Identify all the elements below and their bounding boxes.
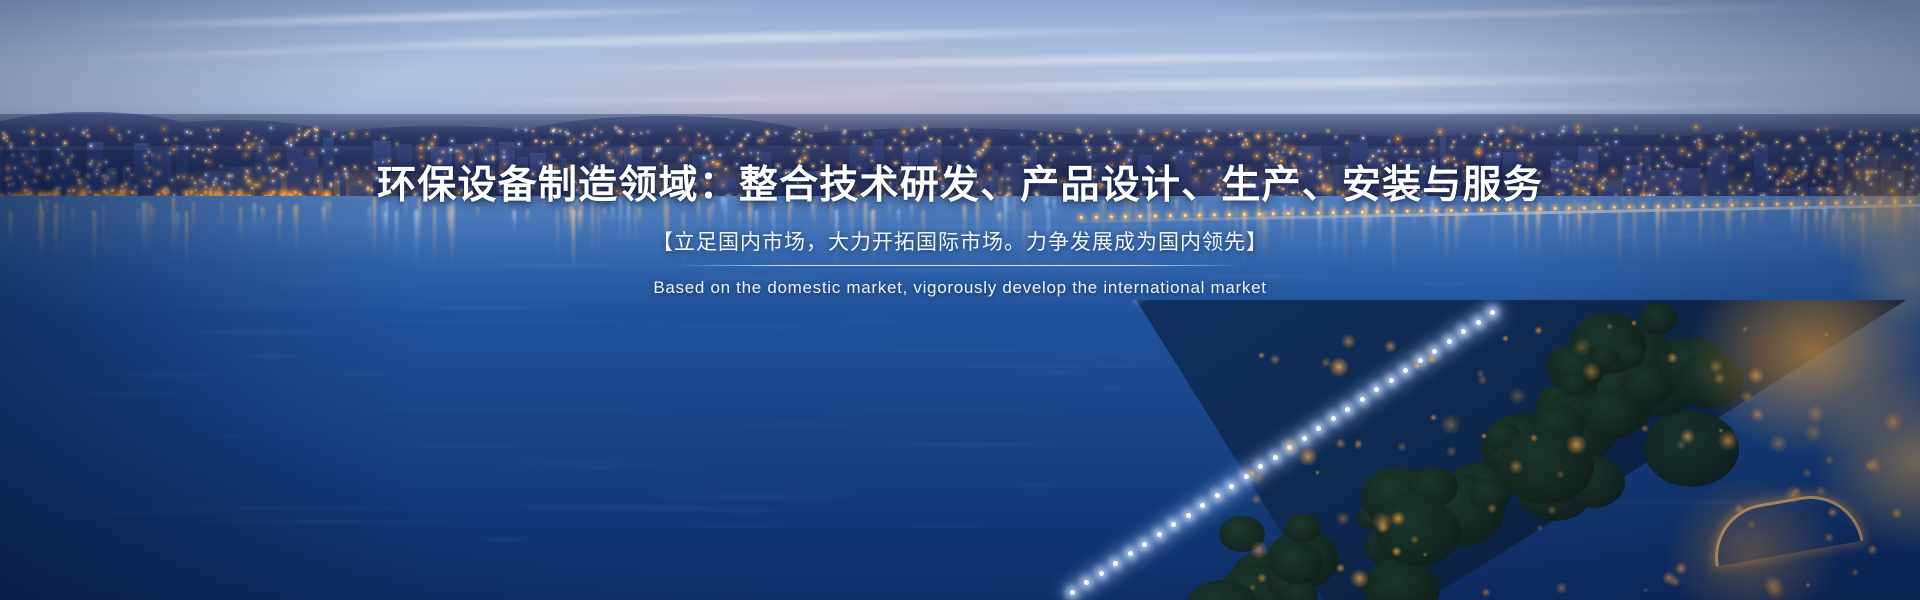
warm-light <box>1718 430 1739 451</box>
hero-banner: 环保设备制造领域：整合技术研发、产品设计、生产、安装与服务 【立足国内市场，大力… <box>0 0 1920 600</box>
window-light <box>42 134 44 136</box>
window-light <box>1208 130 1210 132</box>
window-light <box>798 131 800 133</box>
window-light <box>261 140 263 142</box>
water-ripple <box>575 509 827 511</box>
promenade-lamp <box>1142 542 1147 547</box>
water-ripple <box>455 506 777 508</box>
window-light <box>1715 153 1717 155</box>
window-light <box>1451 146 1453 148</box>
window-light <box>1676 137 1678 139</box>
window-light <box>798 139 800 141</box>
window-light <box>1501 130 1503 132</box>
window-light <box>535 140 537 142</box>
promenade-lamp <box>1128 551 1133 556</box>
window-light <box>739 145 741 147</box>
water-ripple <box>725 330 831 332</box>
window-light <box>111 129 113 131</box>
window-light <box>1004 147 1006 149</box>
warm-light <box>1410 535 1419 544</box>
window-light <box>889 147 891 149</box>
window-light <box>583 134 585 136</box>
window-light <box>804 157 806 159</box>
window-light <box>1521 144 1523 146</box>
window-light <box>1053 154 1055 156</box>
warm-light <box>1390 511 1405 526</box>
window-light <box>1656 148 1658 150</box>
window-light <box>805 133 807 135</box>
window-light <box>1277 143 1279 145</box>
window-light <box>1089 156 1091 158</box>
window-light <box>503 156 505 158</box>
window-light <box>1372 155 1374 157</box>
window-light <box>1278 138 1280 140</box>
window-light <box>209 136 211 138</box>
warm-light <box>1384 340 1396 352</box>
window-light <box>1269 154 1271 156</box>
window-light <box>747 134 749 136</box>
window-light <box>213 129 215 131</box>
window-light <box>518 143 520 145</box>
window-light <box>1195 153 1197 155</box>
window-light <box>605 142 607 144</box>
window-light <box>1838 147 1840 149</box>
window-light <box>1161 144 1163 146</box>
window-light <box>680 159 682 161</box>
window-light <box>1453 158 1455 160</box>
promenade-lamp <box>1273 455 1278 460</box>
window-light <box>1215 137 1217 139</box>
window-light <box>383 137 385 139</box>
window-light <box>733 150 735 152</box>
promenade-lamp <box>1229 484 1234 489</box>
window-light <box>1520 130 1522 132</box>
window-light <box>1817 129 1819 131</box>
tree-cluster <box>1271 542 1323 584</box>
window-light <box>615 127 617 129</box>
window-light <box>1478 148 1480 150</box>
window-light <box>1050 159 1052 161</box>
window-light <box>1558 134 1560 136</box>
window-light <box>525 129 527 131</box>
window-light <box>244 139 246 141</box>
window-light <box>1489 155 1491 157</box>
window-light <box>56 134 58 136</box>
window-light <box>290 139 292 141</box>
window-light <box>342 136 344 138</box>
window-light <box>492 158 494 160</box>
text-divider <box>682 265 1238 266</box>
warm-light <box>1740 390 1754 404</box>
window-light <box>807 146 809 148</box>
window-light <box>793 150 795 152</box>
window-light <box>396 143 398 145</box>
window-light <box>1596 139 1598 141</box>
warm-light <box>1350 569 1369 588</box>
window-light <box>1295 133 1297 135</box>
window-light <box>553 129 555 131</box>
window-light <box>1827 136 1829 138</box>
window-light <box>1740 127 1742 129</box>
water-ripple <box>481 466 720 468</box>
window-light <box>810 135 812 137</box>
window-light <box>579 155 581 157</box>
warm-light <box>1815 485 1827 497</box>
window-light <box>1757 143 1759 145</box>
window-light <box>31 131 33 133</box>
window-light <box>1896 135 1898 137</box>
window-light <box>1271 157 1273 159</box>
window-light <box>1521 155 1523 157</box>
warm-light <box>1487 503 1497 513</box>
window-light <box>679 128 681 130</box>
window-light <box>1838 145 1840 147</box>
window-light <box>1308 156 1310 158</box>
window-light <box>1599 147 1601 149</box>
warm-light <box>1747 520 1756 529</box>
window-light <box>974 157 976 159</box>
window-light <box>1517 146 1519 148</box>
water-ripple <box>466 461 677 463</box>
window-light <box>1021 134 1023 136</box>
warm-light <box>1481 433 1487 439</box>
window-light <box>1439 131 1441 133</box>
window-light <box>315 139 317 141</box>
window-light <box>1490 143 1492 145</box>
window-light <box>1246 143 1248 145</box>
window-light <box>569 142 571 144</box>
window-light <box>1036 147 1038 149</box>
window-light <box>1269 134 1271 136</box>
window-light <box>298 128 300 130</box>
window-light <box>902 142 904 144</box>
window-light <box>1915 140 1917 142</box>
window-light <box>1916 129 1918 131</box>
window-light <box>141 136 143 138</box>
window-light <box>1878 134 1880 136</box>
window-light <box>1589 149 1591 151</box>
window-light <box>515 129 517 131</box>
window-light <box>1276 151 1278 153</box>
window-light <box>719 154 721 156</box>
banner-tagline: Based on the domestic market, vigorously… <box>653 278 1266 298</box>
window-light <box>1200 153 1202 155</box>
water-ripple <box>413 340 721 342</box>
window-light <box>252 143 254 145</box>
window-light <box>631 145 633 147</box>
window-light <box>1395 151 1397 153</box>
window-light <box>1788 145 1790 147</box>
window-light <box>308 130 310 132</box>
window-light <box>750 152 752 154</box>
promenade-lamp <box>1360 397 1365 402</box>
window-light <box>1228 154 1230 156</box>
window-light <box>656 150 658 152</box>
window-light <box>306 132 308 134</box>
window-light <box>214 146 216 148</box>
window-light <box>1303 135 1305 137</box>
warm-light <box>1336 563 1345 572</box>
window-light <box>689 148 691 150</box>
window-light <box>1563 126 1565 128</box>
window-light <box>442 151 444 153</box>
window-light <box>10 146 12 148</box>
window-light <box>903 131 905 133</box>
window-light <box>1284 146 1286 148</box>
tree-cluster <box>1285 514 1321 543</box>
window-light <box>894 139 896 141</box>
window-light <box>492 156 494 158</box>
window-light <box>460 157 462 159</box>
window-light <box>1861 143 1863 145</box>
window-light <box>1843 142 1845 144</box>
window-light <box>298 134 300 136</box>
window-light <box>315 135 317 137</box>
window-light <box>1335 136 1337 138</box>
window-light <box>1594 131 1596 133</box>
hero-text-block: 环保设备制造领域：整合技术研发、产品设计、生产、安装与服务 【立足国内市场，大力… <box>0 162 1920 298</box>
warm-light <box>1251 494 1262 505</box>
window-light <box>647 131 649 133</box>
window-light <box>459 151 461 153</box>
window-light <box>825 127 827 129</box>
warm-light <box>1742 326 1748 332</box>
window-light <box>1447 158 1449 160</box>
window-light <box>503 151 505 153</box>
window-light <box>1542 133 1544 135</box>
window-light <box>1118 145 1120 147</box>
window-light <box>853 141 855 143</box>
promenade-lamp <box>1403 368 1408 373</box>
window-light <box>1698 139 1700 141</box>
window-light <box>1745 132 1747 134</box>
window-light <box>1699 147 1701 149</box>
window-light <box>469 147 471 149</box>
window-light <box>632 133 634 135</box>
window-light <box>1700 144 1702 146</box>
window-light <box>1639 156 1641 158</box>
window-light <box>1285 135 1287 137</box>
window-light <box>814 145 816 147</box>
window-light <box>1662 156 1664 158</box>
window-light <box>1282 151 1284 153</box>
window-light <box>351 133 353 135</box>
window-light <box>683 139 685 141</box>
warm-light <box>1669 575 1681 587</box>
warm-light <box>1667 352 1678 363</box>
window-light <box>64 142 66 144</box>
window-light <box>979 153 981 155</box>
window-light <box>217 129 219 131</box>
window-light <box>1615 129 1617 131</box>
window-light <box>1245 139 1247 141</box>
window-light <box>86 129 88 131</box>
window-light <box>744 138 746 140</box>
window-light <box>333 133 335 135</box>
window-light <box>1463 136 1465 138</box>
window-light <box>1430 147 1432 149</box>
window-light <box>864 134 866 136</box>
warm-light <box>1802 468 1811 477</box>
window-light <box>1477 151 1479 153</box>
promenade-lamp <box>1389 378 1394 383</box>
window-light <box>1507 146 1509 148</box>
window-light <box>1507 140 1509 142</box>
warm-light <box>1336 511 1350 525</box>
window-light <box>1803 139 1805 141</box>
window-light <box>431 143 433 145</box>
window-light <box>87 135 89 137</box>
window-light <box>1742 141 1744 143</box>
cloud-streak <box>1180 3 1880 22</box>
window-light <box>1417 151 1419 153</box>
window-light <box>803 150 805 152</box>
window-light <box>248 146 250 148</box>
window-light <box>1051 140 1053 142</box>
warm-light <box>1547 505 1557 515</box>
window-light <box>1088 149 1090 151</box>
window-light <box>186 147 188 149</box>
window-light <box>1688 154 1690 156</box>
window-light <box>862 151 864 153</box>
window-light <box>1271 144 1273 146</box>
window-light <box>207 129 209 131</box>
window-light <box>1196 141 1198 143</box>
window-light <box>1681 150 1683 152</box>
water-ripple <box>470 538 537 540</box>
window-light <box>1140 133 1142 135</box>
window-light <box>1404 150 1406 152</box>
window-light <box>659 148 661 150</box>
window-light <box>635 149 637 151</box>
window-light <box>591 134 593 136</box>
window-light <box>316 129 318 131</box>
promenade-lamp <box>1331 416 1336 421</box>
warm-light <box>1354 441 1362 449</box>
window-light <box>420 147 422 149</box>
window-light <box>951 136 953 138</box>
window-light <box>1327 130 1329 132</box>
warm-light <box>1257 573 1267 583</box>
window-light <box>1721 136 1723 138</box>
window-light <box>1606 143 1608 145</box>
window-light <box>296 139 298 141</box>
window-light <box>1850 131 1852 133</box>
window-light <box>422 138 424 140</box>
window-light <box>761 139 763 141</box>
window-light <box>1242 144 1244 146</box>
window-light <box>1808 147 1810 149</box>
window-light <box>1059 137 1061 139</box>
window-light <box>600 131 602 133</box>
window-light <box>843 140 845 142</box>
warm-light <box>1792 487 1801 496</box>
window-light <box>270 127 272 129</box>
window-light <box>1230 134 1232 136</box>
window-light <box>1401 146 1403 148</box>
window-light <box>175 138 177 140</box>
window-light <box>1499 144 1501 146</box>
warm-light <box>1573 338 1591 356</box>
window-light <box>1086 146 1088 148</box>
window-light <box>434 136 436 138</box>
window-light <box>1605 154 1607 156</box>
window-light <box>911 129 913 131</box>
window-light <box>609 156 611 158</box>
promenade-lamp <box>1070 590 1075 595</box>
promenade-lamp <box>1200 503 1205 508</box>
window-light <box>186 131 188 133</box>
window-light <box>870 134 872 136</box>
promenade-lamp <box>1099 571 1104 576</box>
warm-light <box>1422 552 1427 557</box>
window-light <box>1210 142 1212 144</box>
window-light <box>987 140 989 142</box>
promenade-lamp <box>1345 407 1350 412</box>
window-light <box>1180 151 1182 153</box>
window-light <box>1695 126 1697 128</box>
warm-light <box>1335 438 1346 449</box>
window-light <box>711 153 713 155</box>
warm-light <box>1804 423 1823 442</box>
window-light <box>1108 131 1110 133</box>
warm-light <box>1341 334 1356 349</box>
window-light <box>255 137 257 139</box>
window-light <box>1557 153 1559 155</box>
window-light <box>1257 136 1259 138</box>
window-light <box>915 149 917 151</box>
window-light <box>1334 154 1336 156</box>
window-light <box>366 133 368 135</box>
warm-light <box>1851 569 1858 576</box>
window-light <box>1912 130 1914 132</box>
promenade-lamp <box>1215 493 1220 498</box>
warm-light <box>1867 544 1877 554</box>
window-light <box>1577 131 1579 133</box>
window-light <box>290 144 292 146</box>
promenade-lamp <box>1113 561 1118 566</box>
window-light <box>1901 144 1903 146</box>
window-light <box>1893 138 1895 140</box>
window-light <box>1346 142 1348 144</box>
window-light <box>532 130 534 132</box>
window-light <box>1241 133 1243 135</box>
warm-light <box>1807 405 1825 423</box>
warm-light <box>1413 362 1421 370</box>
window-light <box>1238 133 1240 135</box>
window-light <box>10 143 12 145</box>
window-light <box>1828 141 1830 143</box>
window-light <box>1073 152 1075 154</box>
warm-light <box>1765 580 1786 600</box>
window-light <box>620 131 622 133</box>
warm-light <box>1481 588 1490 597</box>
window-light <box>456 150 458 152</box>
window-light <box>488 139 490 141</box>
window-light <box>982 149 984 151</box>
window-light <box>163 128 165 130</box>
window-light <box>1528 159 1530 161</box>
window-light <box>1040 133 1042 135</box>
water-ripple <box>563 525 914 527</box>
window-light <box>698 134 700 136</box>
window-light <box>1388 140 1390 142</box>
window-light <box>608 152 610 154</box>
window-light <box>1130 150 1132 152</box>
window-light <box>1183 130 1185 132</box>
window-light <box>128 131 130 133</box>
window-light <box>1716 138 1718 140</box>
